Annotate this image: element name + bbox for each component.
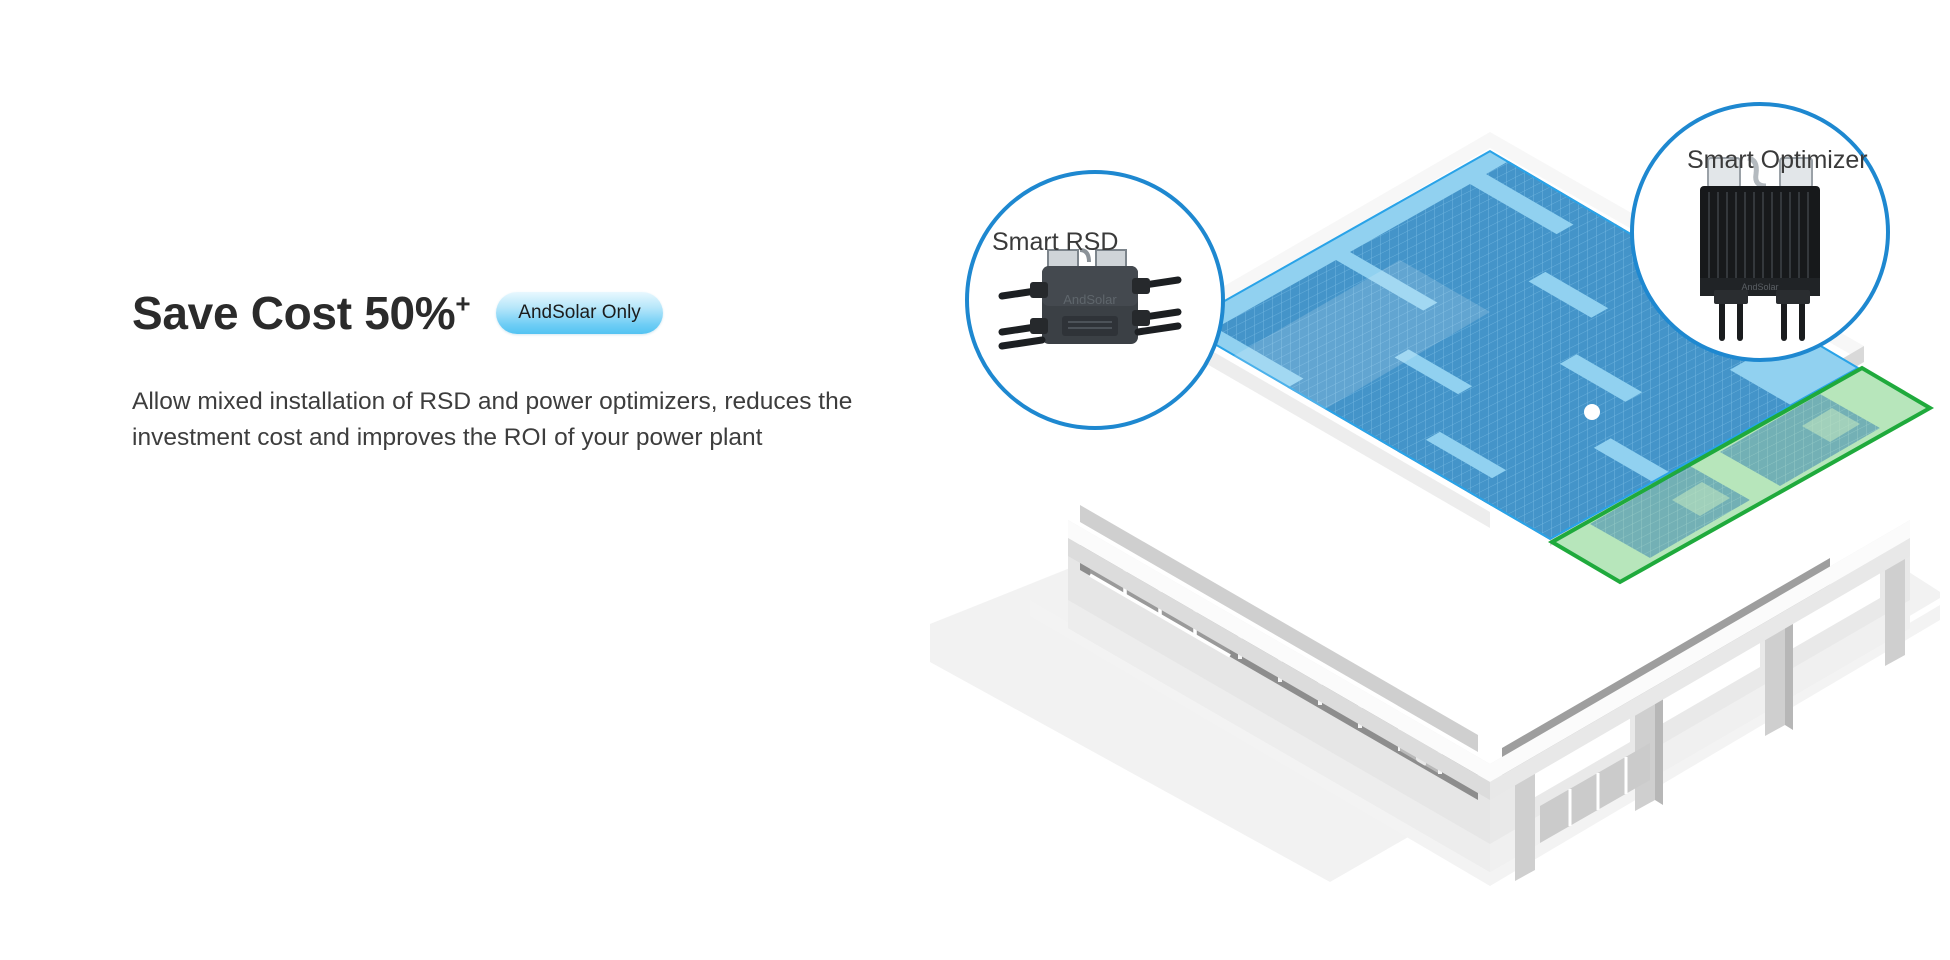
headline-text: Save Cost 50% bbox=[132, 287, 455, 339]
status-badge: AndSolar Only bbox=[496, 292, 663, 334]
callout-smart-optimizer: AndSolar bbox=[1632, 104, 1888, 360]
page-title: Save Cost 50%+ bbox=[132, 290, 470, 336]
callout-smart-rsd: AndSolar bbox=[967, 172, 1223, 428]
feature-text-column: Save Cost 50%+ AndSolar Only Allow mixed… bbox=[132, 282, 892, 456]
connection-marker-dot bbox=[1283, 510, 1299, 526]
solar-building-illustration: AndSolar bbox=[930, 100, 1940, 930]
callout-label-smart-optimizer: Smart Optimizer bbox=[1687, 146, 1868, 175]
feature-description: Allow mixed installation of RSD and powe… bbox=[132, 384, 862, 456]
svg-text:AndSolar: AndSolar bbox=[1063, 292, 1117, 307]
connection-marker-dot bbox=[1584, 404, 1600, 420]
headline-row: Save Cost 50%+ AndSolar Only bbox=[132, 282, 892, 344]
callout-label-smart-rsd: Smart RSD bbox=[992, 228, 1118, 257]
headline-superscript: + bbox=[455, 289, 470, 319]
